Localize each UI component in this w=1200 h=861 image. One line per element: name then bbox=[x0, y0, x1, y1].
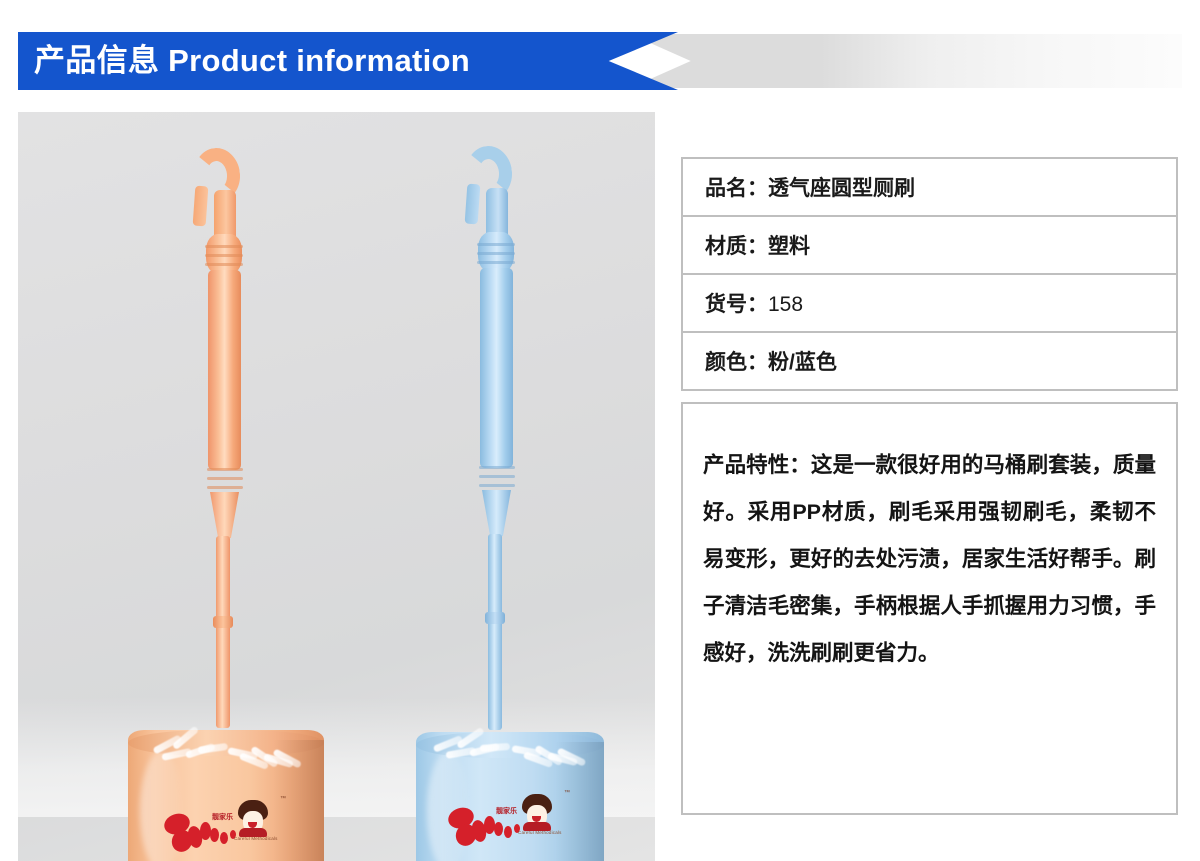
spec-value: 塑料 bbox=[768, 235, 810, 258]
spec-label: 货号： bbox=[705, 293, 768, 316]
page-header-banner: 产品信息 Product information bbox=[18, 32, 1182, 90]
spec-cell-color: 颜色：粉/蓝色 bbox=[682, 332, 1177, 390]
brand-logo-decal: 靓家乐 Careful Methodicals ™ bbox=[448, 790, 570, 854]
blue-brush-taper bbox=[482, 490, 511, 536]
spec-label: 材质： bbox=[705, 235, 768, 258]
mascot-face-icon bbox=[520, 794, 554, 830]
spec-label: 颜色： bbox=[705, 351, 768, 374]
banner-gray-ribbon-decoration bbox=[630, 34, 1182, 88]
blue-brush-grip-ring bbox=[477, 252, 515, 255]
bristle bbox=[480, 743, 510, 752]
spec-value: 粉/蓝色 bbox=[768, 351, 837, 374]
brand-name-cn: 靓家乐 bbox=[496, 806, 517, 816]
product-photo: 靓家乐 Careful Methodicals ™ bbox=[18, 112, 655, 861]
table-row: 材质：塑料 bbox=[682, 216, 1177, 274]
table-row: 颜色：粉/蓝色 bbox=[682, 332, 1177, 390]
blue-brush-grip-ring bbox=[479, 466, 515, 469]
spec-value: 透气座圆型厕刷 bbox=[768, 177, 915, 200]
blue-brush-grip-ring bbox=[477, 243, 515, 246]
mascot-body bbox=[523, 822, 551, 831]
product-description-text: 产品特性：这是一款很好用的马桶刷套装，质量好。采用PP材质，刷毛采用强韧刷毛，柔… bbox=[683, 404, 1176, 677]
logo-blob bbox=[494, 822, 503, 836]
spec-label: 品名： bbox=[705, 177, 768, 200]
table-row: 品名：透气座圆型厕刷 bbox=[682, 158, 1177, 216]
trademark-symbol: ™ bbox=[564, 790, 570, 796]
spec-value: 158 bbox=[768, 293, 803, 316]
table-row: 货号：158 bbox=[682, 274, 1177, 332]
page-title: 产品信息 Product information bbox=[34, 32, 470, 90]
spec-cell-item-number: 货号：158 bbox=[682, 274, 1177, 332]
logo-blob bbox=[504, 826, 512, 838]
blue-brush-shaft bbox=[488, 534, 502, 730]
blue-brush-grip-barrel bbox=[480, 268, 513, 468]
product-spec-table: 品名：透气座圆型厕刷 材质：塑料 货号：158 颜色：粉/蓝色 bbox=[681, 157, 1178, 391]
blue-brush-grip-ring bbox=[479, 484, 515, 487]
spec-cell-material: 材质：塑料 bbox=[682, 216, 1177, 274]
product-description-box: 产品特性：这是一款很好用的马桶刷套装，质量好。采用PP材质，刷毛采用强韧刷毛，柔… bbox=[681, 402, 1178, 815]
blue-brush-shaft-collar bbox=[485, 612, 505, 624]
blue-brush-bristles bbox=[416, 732, 604, 774]
blue-toilet-brush: 靓家乐 Careful Methodicals ™ bbox=[18, 112, 655, 861]
blue-brush-grip-ring bbox=[479, 475, 515, 478]
blue-brush-hook-tail bbox=[465, 184, 481, 225]
spec-cell-product-name: 品名：透气座圆型厕刷 bbox=[682, 158, 1177, 216]
blue-brush-grip-ring bbox=[477, 261, 515, 264]
